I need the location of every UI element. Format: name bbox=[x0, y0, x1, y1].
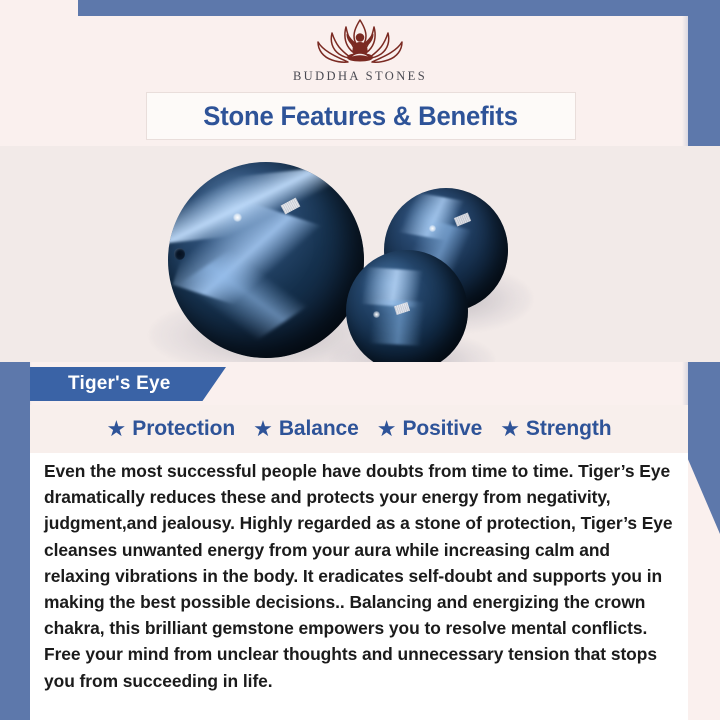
top-blue-bar bbox=[0, 0, 720, 16]
specular-highlight bbox=[373, 311, 380, 318]
benefit-label: Protection bbox=[132, 417, 235, 441]
benefit-label: Strength bbox=[526, 417, 612, 441]
page-title: Stone Features & Benefits bbox=[204, 101, 519, 132]
benefit-label: Balance bbox=[279, 417, 359, 441]
benefit-label: Positive bbox=[402, 417, 482, 441]
benefit-item-positive: ★ Positive bbox=[370, 417, 489, 441]
product-photo bbox=[0, 146, 720, 362]
brand-logo: BUDDHA STONES bbox=[0, 16, 720, 90]
small-sphere bbox=[346, 250, 468, 362]
star-icon: ★ bbox=[253, 418, 273, 440]
description-panel: Even the most successful people have dou… bbox=[30, 453, 688, 720]
benefit-item-protection: ★ Protection bbox=[100, 417, 243, 441]
lotus-meditating-figure-icon bbox=[296, 16, 424, 68]
infographic-page: BUDDHA STONES Stone Features & Benefits bbox=[0, 0, 720, 720]
benefits-row: ★ Protection ★ Balance ★ Positive ★ Stre… bbox=[30, 405, 688, 453]
top-left-notch bbox=[0, 0, 78, 16]
star-icon: ★ bbox=[377, 418, 397, 440]
star-icon: ★ bbox=[500, 418, 520, 440]
specular-highlight bbox=[429, 225, 436, 232]
large-sphere bbox=[168, 162, 364, 358]
star-icon: ★ bbox=[107, 418, 127, 440]
benefit-item-strength: ★ Strength bbox=[493, 417, 618, 441]
stone-name-banner: Tiger's Eye bbox=[30, 367, 226, 401]
benefit-item-balance: ★ Balance bbox=[246, 417, 366, 441]
title-band: Stone Features & Benefits bbox=[146, 92, 576, 140]
stone-name: Tiger's Eye bbox=[68, 373, 170, 395]
description-text: Even the most successful people have dou… bbox=[44, 458, 674, 694]
specular-highlight bbox=[233, 213, 242, 222]
brand-name: BUDDHA STONES bbox=[293, 69, 427, 84]
